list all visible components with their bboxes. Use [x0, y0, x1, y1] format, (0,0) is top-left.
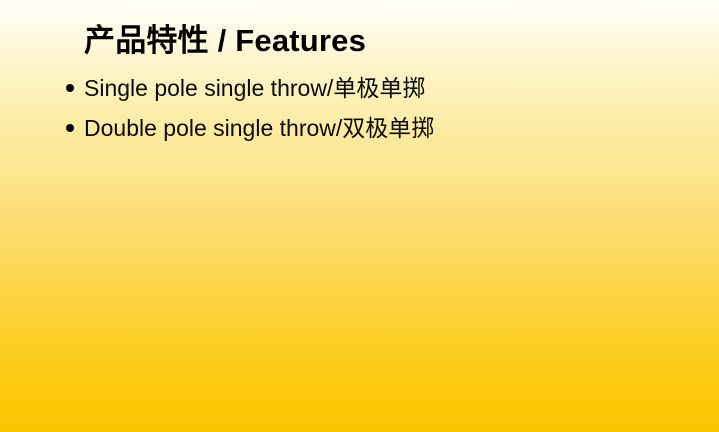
page-title: 产品特性 / Features [84, 20, 686, 62]
filled-circle-bullet-icon [66, 124, 74, 132]
list-item: Double pole single throw/双极单掷 [66, 108, 686, 148]
feature-text: Single pole single throw/单极单掷 [84, 75, 425, 101]
feature-slide: 产品特性 / Features Single pole single throw… [0, 0, 719, 432]
feature-text: Double pole single throw/双极单掷 [84, 115, 434, 141]
list-item: Single pole single throw/单极单掷 [66, 68, 686, 108]
slide-content: 产品特性 / Features Single pole single throw… [66, 20, 686, 148]
filled-circle-bullet-icon [66, 84, 74, 92]
feature-list: Single pole single throw/单极单掷 Double pol… [66, 68, 686, 148]
